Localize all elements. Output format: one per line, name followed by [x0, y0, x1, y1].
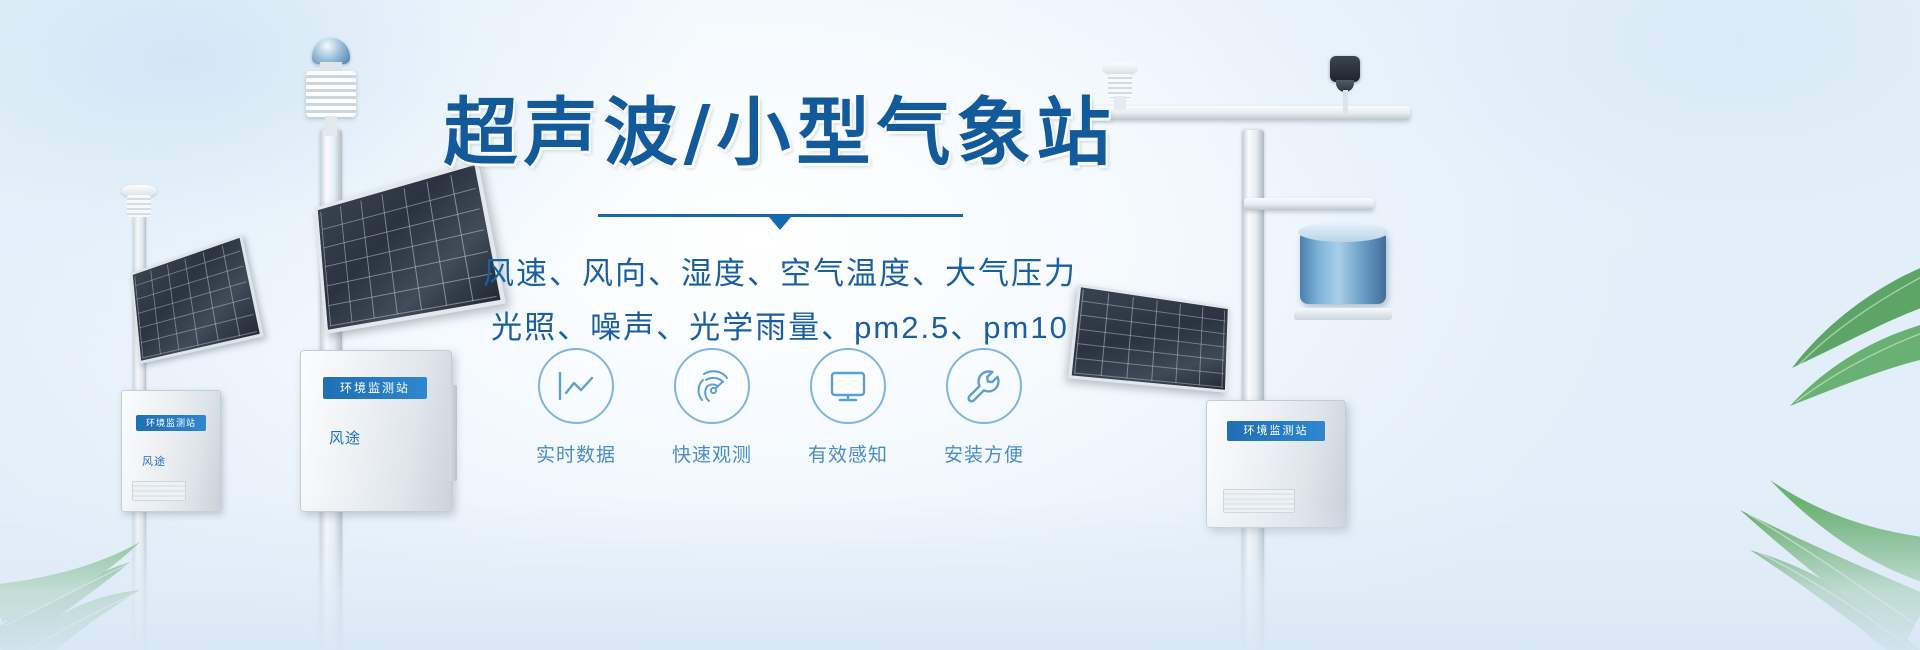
feature-icon-circle [810, 348, 886, 424]
weather-station-left: 环境监测站 风途 [95, 175, 260, 650]
weather-sensor-left [121, 185, 157, 219]
cabinet-plate-left-text: 环境监测站 [136, 415, 206, 431]
feature-list: 实时数据 快速观测 [520, 348, 1040, 467]
subtitle-line-1: 风速、风向、湿度、空气温度、大气压力 [430, 250, 1130, 298]
feature-label: 有效感知 [792, 440, 904, 467]
feature-icon-circle [674, 348, 750, 424]
feature-item-easy-install[interactable]: 安装方便 [928, 348, 1040, 467]
subtitle-line-2: 光照、噪声、光学雨量、pm2.5、pm10 [430, 304, 1130, 352]
cabinet-vent-right [1223, 489, 1295, 513]
feature-icon-circle [538, 348, 614, 424]
feature-label: 实时数据 [520, 440, 632, 467]
cabinet-plate-right-text: 环境监测站 [1227, 421, 1325, 441]
rain-gauge-right [1300, 218, 1386, 314]
crossarm-lower [1244, 198, 1374, 210]
brand-logo-middle: 风途 [329, 427, 361, 448]
line-chart-icon [556, 369, 596, 403]
wrench-icon [964, 367, 1004, 405]
control-cabinet-left: 环境监测站 风途 [121, 390, 221, 512]
cabinet-plate-right: 环境监测站 [1227, 421, 1325, 441]
monitor-screen-icon [828, 369, 868, 403]
feature-item-fast-observation[interactable]: 快速观测 [656, 348, 768, 467]
cabinet-plate-left: 环境监测站 [136, 415, 206, 431]
feature-label: 快速观测 [656, 440, 768, 467]
divider-triangle-icon [769, 217, 791, 230]
palm-leaf-right-lower [1630, 360, 1920, 650]
palm-leaf-right-upper [1680, 250, 1920, 450]
feature-item-effective-sensing[interactable]: 有效感知 [792, 348, 904, 467]
feature-item-realtime-data[interactable]: 实时数据 [520, 348, 632, 467]
cabinet-vent-left [132, 481, 186, 501]
brand-logo-left: 风途 [142, 453, 166, 469]
cabinet-plate-middle-text: 环境监测站 [323, 377, 427, 399]
feature-icon-circle [946, 348, 1022, 424]
radar-signal-icon [692, 367, 732, 405]
control-cabinet-right: 环境监测站 [1206, 400, 1346, 528]
radiation-sensor-right [1328, 56, 1362, 112]
page-title: 超声波/小型气象站 [430, 96, 1130, 170]
ultrasonic-sensor-head [302, 38, 360, 134]
feature-label: 安装方便 [928, 440, 1040, 467]
cabinet-plate-middle: 环境监测站 [323, 377, 427, 399]
product-banner: 环境监测站 风途 环境监测站 风途 [0, 0, 1920, 650]
divider [598, 214, 963, 226]
solar-panel-left [130, 234, 263, 364]
